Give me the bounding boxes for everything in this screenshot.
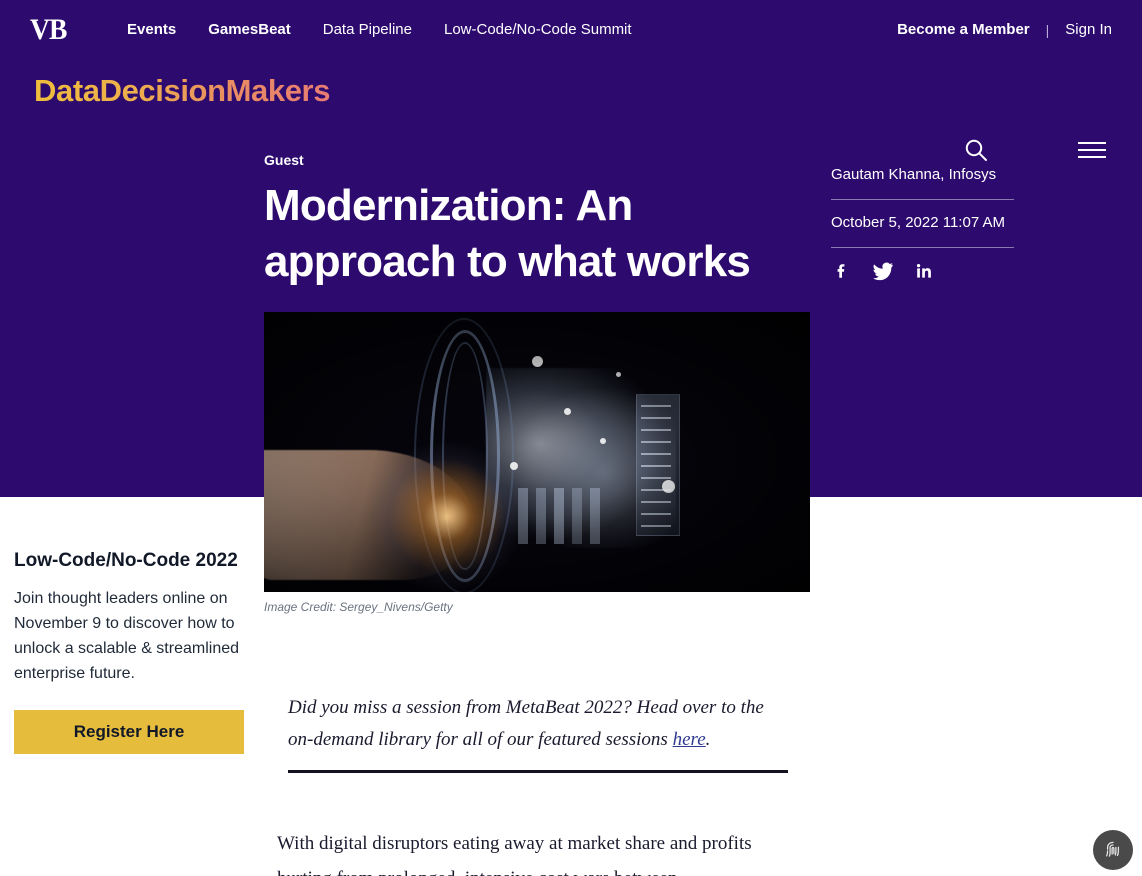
fingerprint-icon[interactable] [1093, 830, 1133, 870]
page-title: Modernization: An approach to what works [264, 178, 812, 290]
primary-nav-links: Events GamesBeat Data Pipeline Low-Code/… [127, 20, 632, 40]
datadecisionmakers-title[interactable]: DataDecisionMakers [34, 72, 330, 110]
nav-item-low-code-no-code-summit[interactable]: Low-Code/No-Code Summit [444, 20, 632, 40]
twitter-icon[interactable] [872, 260, 894, 282]
nav-separator: | [1046, 22, 1050, 38]
callout-divider [288, 770, 788, 773]
callout-text-after: . [706, 729, 711, 750]
article-page: VB Events GamesBeat Data Pipeline Low-Co… [0, 0, 1142, 876]
top-navigation-bar: VB Events GamesBeat Data Pipeline Low-Co… [0, 0, 1142, 60]
article-author[interactable]: Gautam Khanna, Infosys [831, 164, 1014, 199]
callout-link-here[interactable]: here [673, 729, 706, 750]
nav-item-events[interactable]: Events [127, 20, 176, 40]
promo-title: Low-Code/No-Code 2022 [14, 548, 246, 574]
article-callout: Did you miss a session from MetaBeat 202… [288, 692, 788, 756]
become-a-member-link[interactable]: Become a Member [897, 20, 1030, 40]
hamburger-bar [1078, 149, 1106, 151]
facebook-icon[interactable] [831, 260, 853, 282]
article-meta: Gautam Khanna, Infosys October 5, 2022 1… [831, 164, 1014, 282]
brand-row: DataDecisionMakers [0, 60, 1142, 122]
hamburger-bar [1078, 142, 1106, 144]
hero-image [264, 312, 810, 592]
promo-description: Join thought leaders online on November … [14, 586, 246, 686]
venturebeat-logo[interactable]: VB [30, 14, 67, 46]
nav-item-data-pipeline[interactable]: Data Pipeline [323, 20, 412, 40]
image-credit-caption: Image Credit: Sergey_Nivens/Getty [264, 599, 810, 615]
nav-item-gamesbeat[interactable]: GamesBeat [208, 20, 291, 40]
linkedin-icon[interactable] [913, 260, 935, 282]
nav-account-actions: Become a Member | Sign In [897, 20, 1112, 40]
article-body-paragraph: With digital disruptors eating away at m… [277, 826, 801, 876]
image-vignette [264, 312, 810, 592]
social-share-row [831, 248, 1014, 282]
hamburger-bar [1078, 156, 1106, 158]
search-icon[interactable] [962, 136, 990, 164]
register-here-button[interactable]: Register Here [14, 710, 244, 754]
article-header: Guest Modernization: An approach to what… [264, 150, 812, 290]
hamburger-menu-icon[interactable] [1078, 138, 1106, 162]
sign-in-link[interactable]: Sign In [1065, 20, 1112, 40]
article-hero-figure: Image Credit: Sergey_Nivens/Getty [264, 312, 810, 615]
article-kicker: Guest [264, 150, 812, 170]
sidebar-promo: Low-Code/No-Code 2022 Join thought leade… [14, 548, 246, 754]
article-timestamp: October 5, 2022 11:07 AM [831, 200, 1014, 247]
